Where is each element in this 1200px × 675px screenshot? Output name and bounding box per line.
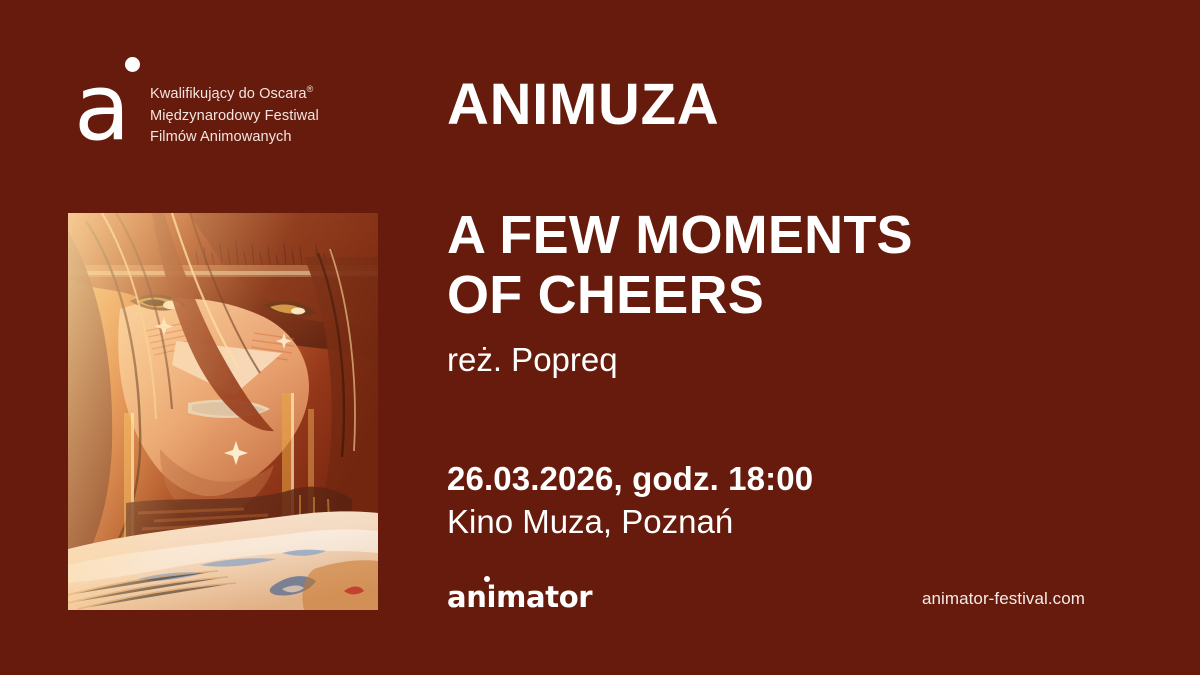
film-still-image [68,213,378,610]
animator-a-dot-mark-icon: a [74,48,136,144]
screening-venue: Kino Muza, Poznań [447,505,733,538]
screening-date-time: 26.03.2026, godz. 18:00 [447,462,813,495]
event-title: ANIMUZA [447,76,719,134]
festival-mark-dot-icon [125,57,140,72]
festival-logo-block: a Kwalifikujący do Oscara® Międzynarodow… [74,48,319,149]
festival-mark-letter: a [74,72,129,144]
film-title-line-1: A FEW MOMENTS [447,205,913,265]
animator-wordmark-icon[interactable]: animator [447,583,592,615]
film-title: A FEW MOMENTS OF CHEERS [447,205,913,326]
website-url[interactable]: animator-festival.com [922,590,1085,607]
film-director: reż. Popreq [447,343,618,376]
festival-tagline: Kwalifikujący do Oscara® Międzynarodowy … [150,84,319,149]
animator-i-dot-icon [484,576,490,582]
poster-text-column: ANIMUZA A FEW MOMENTS OF CHEERS reż. Pop… [447,0,1147,675]
film-title-line-2: OF CHEERS [447,265,913,325]
festival-tagline-line-3: Filmów Animowanych [150,127,319,149]
film-still-artwork [68,213,378,610]
animator-brand-label: animator [447,583,592,612]
festival-tagline-line-2: Międzynarodowy Festiwal [150,106,319,128]
poster-canvas: a Kwalifikujący do Oscara® Międzynarodow… [0,0,1200,675]
festival-tagline-line-1: Kwalifikujący do Oscara® [150,84,319,106]
registered-trademark-symbol: ® [307,84,314,94]
